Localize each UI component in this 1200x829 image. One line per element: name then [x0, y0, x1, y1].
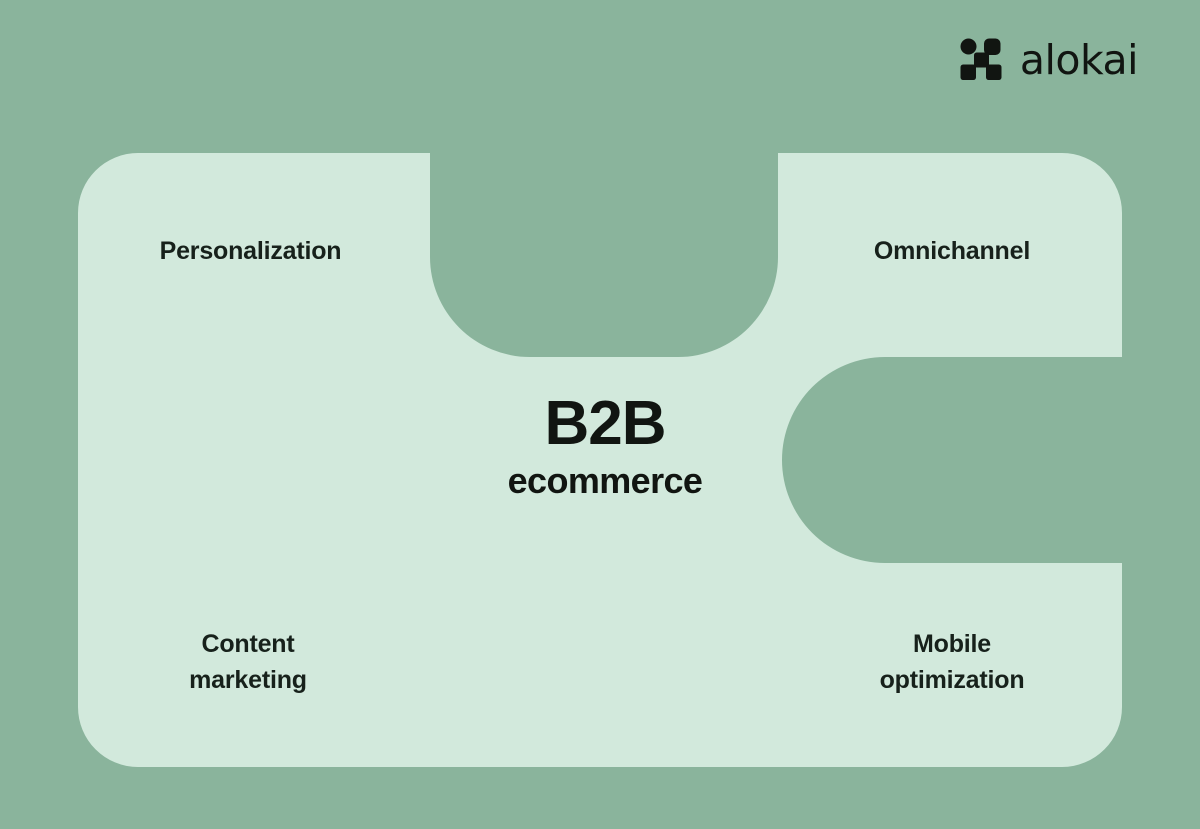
- center-subtitle: ecommerce: [430, 461, 780, 501]
- brand-logo: alokai: [960, 38, 1138, 82]
- alokai-logo-icon: [960, 38, 1004, 82]
- diagram-canvas: alokai Personalization Omnichannel Conte…: [0, 0, 1200, 829]
- node-label-content-marketing: Content marketing: [78, 626, 418, 699]
- node-label-mobile-optimization: Mobile optimization: [782, 626, 1122, 699]
- node-label-personalization: Personalization: [78, 233, 423, 269]
- center-title: B2B: [430, 392, 780, 455]
- brand-name: alokai: [1020, 40, 1138, 81]
- node-label-omnichannel: Omnichannel: [782, 233, 1122, 269]
- center-hub: B2B ecommerce: [430, 392, 780, 501]
